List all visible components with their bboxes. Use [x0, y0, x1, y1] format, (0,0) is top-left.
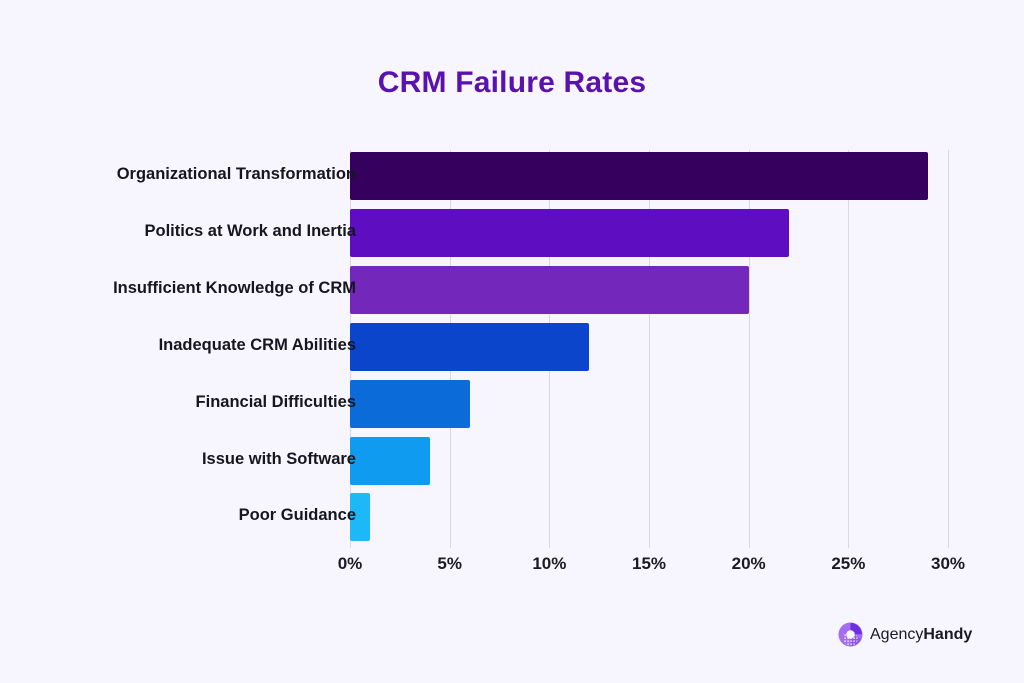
y-axis-category-label: Insufficient Knowledge of CRM [36, 279, 356, 298]
brand-logo-text-bold: Handy [923, 626, 972, 643]
brand-logo-text-light: Agency [870, 626, 923, 643]
brand-logo: AgencyHandy [838, 622, 972, 647]
y-axis-category-label: Financial Difficulties [36, 393, 356, 412]
bar[interactable] [350, 266, 749, 314]
x-axis-tick-label: 30% [931, 554, 965, 574]
x-axis-tick-label: 10% [532, 554, 566, 574]
y-axis-category-label: Poor Guidance [36, 506, 356, 525]
brand-logo-text: AgencyHandy [870, 627, 972, 643]
y-axis-category-label: Inadequate CRM Abilities [36, 336, 356, 355]
x-axis-tick-label: 25% [831, 554, 865, 574]
x-axis-tick-label: 20% [732, 554, 766, 574]
bar[interactable] [350, 437, 430, 485]
chart-card: CRM Failure Rates 0%5%10%15%20%25%30% Ag… [0, 0, 1024, 683]
bar[interactable] [350, 209, 789, 257]
x-axis-tick-label: 5% [437, 554, 462, 574]
gridline [848, 150, 849, 548]
y-axis-category-label: Politics at Work and Inertia [36, 222, 356, 241]
bar[interactable] [350, 323, 589, 371]
agencyhandy-logo-icon [838, 622, 863, 647]
bar[interactable] [350, 152, 928, 200]
chart-title: CRM Failure Rates [0, 66, 1024, 100]
y-axis-category-label: Issue with Software [36, 450, 356, 469]
y-axis-category-label: Organizational Transformation [36, 165, 356, 184]
bar[interactable] [350, 380, 470, 428]
plot-area: 0%5%10%15%20%25%30% [350, 150, 948, 548]
x-axis-tick-label: 0% [338, 554, 363, 574]
gridline [948, 150, 949, 548]
x-axis-tick-label: 15% [632, 554, 666, 574]
